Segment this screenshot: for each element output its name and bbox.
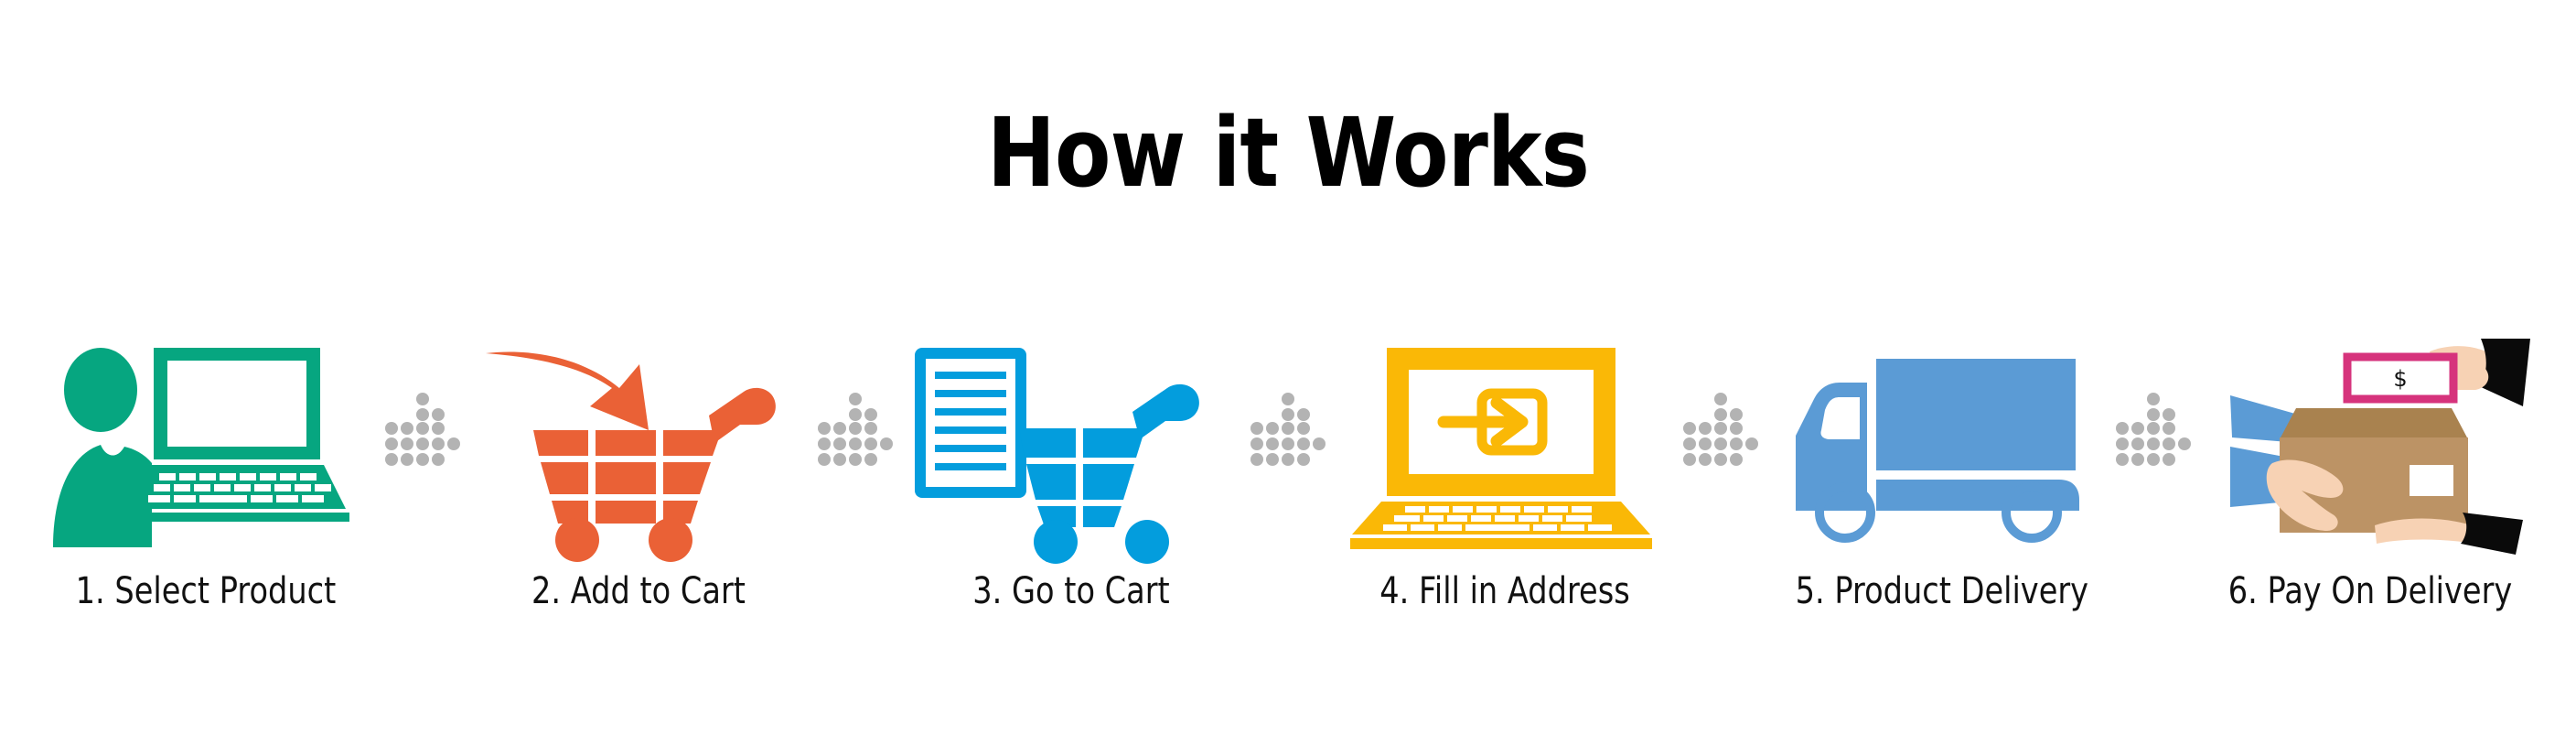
step-6-label: 6. Pay On Delivery <box>2228 569 2513 613</box>
page-title: How it Works <box>180 103 2396 203</box>
dotted-arrow-right-icon-3 <box>1244 302 1332 613</box>
step-2-add-to-cart[interactable]: 2. Add to Cart <box>469 302 808 613</box>
document-with-cart-icon <box>902 346 1240 547</box>
laptop-with-login-arrow-icon <box>1336 346 1674 547</box>
cart-with-curved-arrow-icon <box>469 346 808 547</box>
step-1-label: 1. Select Product <box>64 569 349 613</box>
dotted-arrow-right-icon-2 <box>811 302 899 613</box>
step-2-label: 2. Add to Cart <box>497 569 781 613</box>
step-6-pay-on-delivery[interactable]: $ 6. Pay On Delivery <box>2201 302 2539 613</box>
step-3-go-to-cart[interactable]: 3. Go to Cart <box>902 302 1240 613</box>
steps-row: 1. Select Product <box>37 302 2539 613</box>
step-5-label: 5. Product Delivery <box>1795 569 2079 613</box>
how-it-works-infographic: How it Works <box>0 0 2576 745</box>
hands-exchanging-box-and-money-icon: $ <box>2201 346 2539 547</box>
step-4-label: 4. Fill in Address <box>1362 569 1647 613</box>
step-4-fill-in-address[interactable]: 4. Fill in Address <box>1336 302 1674 613</box>
money-dollar-symbol: $ <box>2393 366 2407 392</box>
step-3-label: 3. Go to Cart <box>929 569 1214 613</box>
dotted-arrow-right-icon-1 <box>379 302 467 613</box>
step-5-product-delivery[interactable]: 5. Product Delivery <box>1768 302 2107 613</box>
step-1-select-product[interactable]: 1. Select Product <box>37 302 375 613</box>
dotted-arrow-right-icon-4 <box>1677 302 1765 613</box>
person-with-laptop-icon <box>37 346 375 547</box>
dotted-arrow-right-icon-5 <box>2109 302 2197 613</box>
delivery-truck-icon <box>1768 346 2107 547</box>
